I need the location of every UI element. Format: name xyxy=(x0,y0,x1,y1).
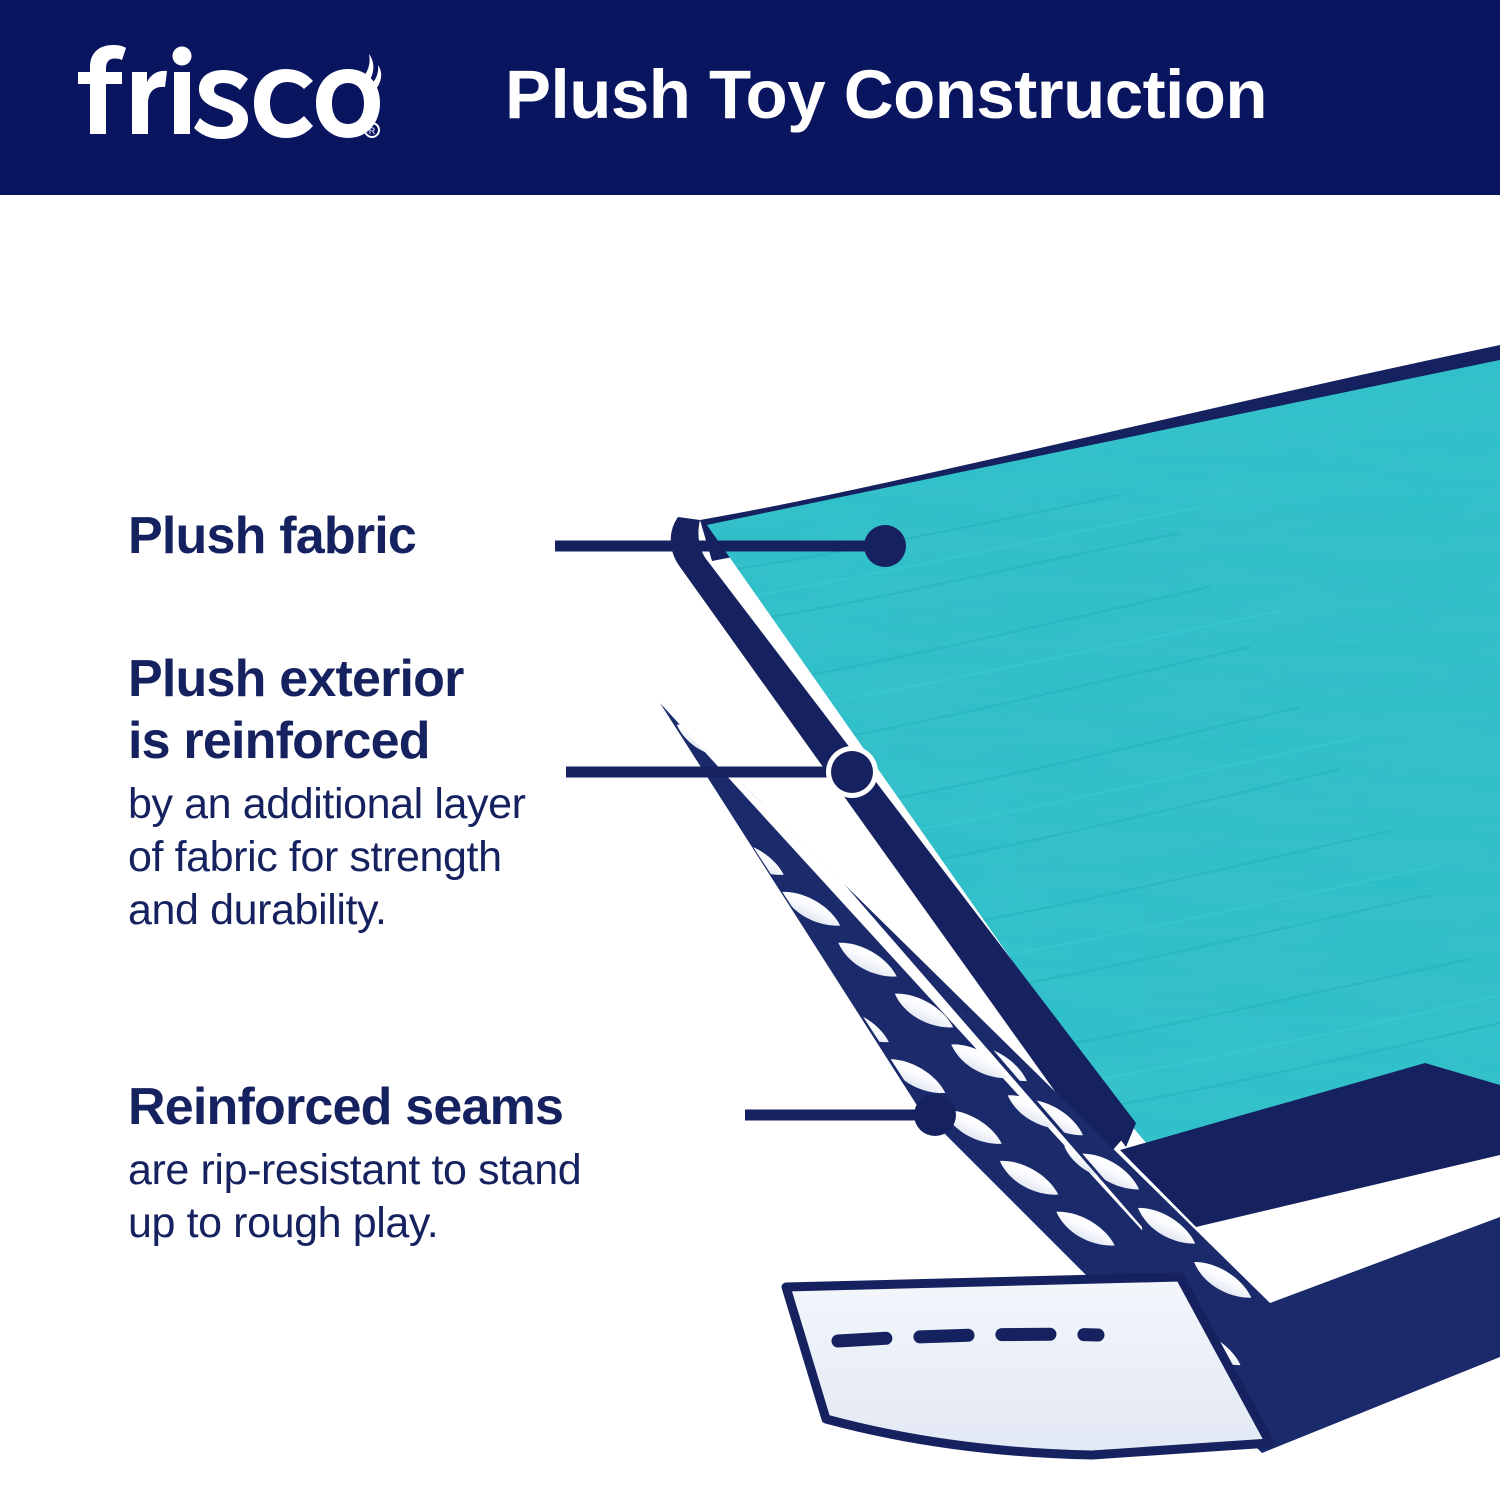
leader-dot-plush-fabric xyxy=(864,525,906,567)
callout-title-plush-fabric: Plush fabric xyxy=(128,505,416,567)
leader-dot-plush-exterior xyxy=(831,751,873,793)
callout-plush-fabric: Plush fabric xyxy=(128,505,416,567)
reinforced-seam-flap xyxy=(786,1277,1270,1455)
frisco-logo: R xyxy=(72,42,382,147)
svg-text:R: R xyxy=(369,126,376,136)
page-title: Plush Toy Construction xyxy=(505,50,1267,140)
callout-body-plush-exterior: by an additional layer of fabric for str… xyxy=(128,778,526,937)
header-bar: R Plush Toy Construction xyxy=(0,0,1500,195)
leader-dot-reinforced-seams xyxy=(914,1094,956,1136)
callout-reinforced-seams: Reinforced seams are rip-resistant to st… xyxy=(128,1076,581,1250)
callout-title-plush-exterior: Plush exterior is reinforced xyxy=(128,648,526,772)
callout-plush-exterior: Plush exterior is reinforced by an addit… xyxy=(128,648,526,937)
callout-body-reinforced-seams: are rip-resistant to stand up to rough p… xyxy=(128,1144,581,1250)
callout-title-reinforced-seams: Reinforced seams xyxy=(128,1076,581,1138)
